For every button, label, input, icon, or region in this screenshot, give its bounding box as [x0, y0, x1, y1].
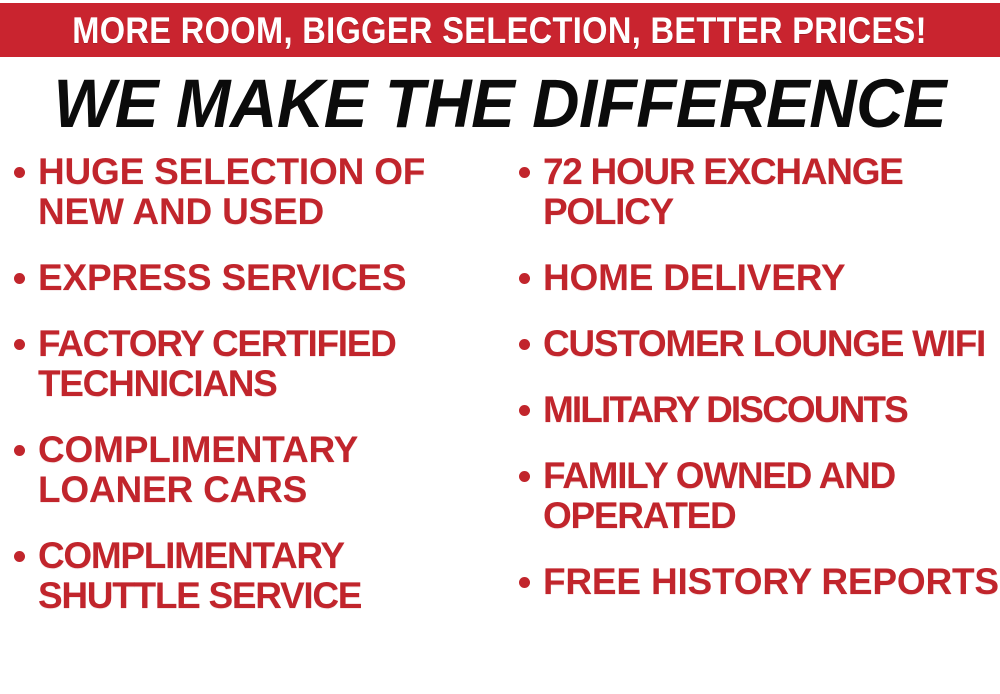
list-item: COMPLIMENTARY LOANER CARS [14, 430, 506, 510]
benefits-column-left: HUGE SELECTION OF NEW AND USED EXPRESS S… [14, 152, 506, 694]
bullet-dot-icon [519, 577, 530, 588]
list-item: HOME DELIVERY [519, 258, 1000, 298]
benefit-label: HOME DELIVERY [543, 258, 845, 298]
headline-container: WE MAKE THE DIFFERENCE [0, 64, 1000, 142]
benefits-columns: HUGE SELECTION OF NEW AND USED EXPRESS S… [0, 152, 1000, 694]
list-item: COMPLIMENTARY SHUTTLE SERVICE [14, 536, 506, 616]
bullet-dot-icon [14, 551, 25, 562]
list-item: CUSTOMER LOUNGE WIFI [519, 324, 1000, 364]
page-title: WE MAKE THE DIFFERENCE [54, 69, 947, 138]
benefits-column-right: 72 HOUR EXCHANGE POLICY HOME DELIVERY CU… [519, 152, 1000, 694]
list-item: MILITARY DISCOUNTS [519, 390, 1000, 430]
list-item: FREE HISTORY REPORTS [519, 562, 1000, 602]
bullet-dot-icon [519, 471, 530, 482]
benefit-label: 72 HOUR EXCHANGE POLICY [543, 152, 1000, 232]
benefit-label: FAMILY OWNED AND OPERATED [543, 456, 1000, 536]
bullet-dot-icon [14, 273, 25, 284]
bullet-dot-icon [519, 167, 530, 178]
promo-banner-graphic: MORE ROOM, BIGGER SELECTION, BETTER PRIC… [0, 0, 1000, 694]
benefit-label: FACTORY CERTIFIED TECHNICIANS [38, 324, 506, 404]
list-item: EXPRESS SERVICES [14, 258, 506, 298]
benefit-label: MILITARY DISCOUNTS [543, 390, 907, 430]
top-red-banner: MORE ROOM, BIGGER SELECTION, BETTER PRIC… [0, 3, 1000, 57]
bullet-dot-icon [14, 445, 25, 456]
list-item: HUGE SELECTION OF NEW AND USED [14, 152, 506, 232]
bullet-dot-icon [14, 339, 25, 350]
benefit-label: CUSTOMER LOUNGE WIFI [543, 324, 985, 364]
benefit-label: FREE HISTORY REPORTS [543, 562, 999, 602]
benefit-label: COMPLIMENTARY SHUTTLE SERVICE [38, 536, 506, 616]
bullet-dot-icon [519, 273, 530, 284]
benefit-label: HUGE SELECTION OF NEW AND USED [38, 152, 506, 232]
benefit-label: COMPLIMENTARY LOANER CARS [38, 430, 506, 510]
list-item: FACTORY CERTIFIED TECHNICIANS [14, 324, 506, 404]
bullet-dot-icon [519, 339, 530, 350]
banner-headline-text: MORE ROOM, BIGGER SELECTION, BETTER PRIC… [73, 12, 928, 49]
bullet-dot-icon [519, 405, 530, 416]
benefit-label: EXPRESS SERVICES [38, 258, 406, 298]
list-item: 72 HOUR EXCHANGE POLICY [519, 152, 1000, 232]
list-item: FAMILY OWNED AND OPERATED [519, 456, 1000, 536]
bullet-dot-icon [14, 167, 25, 178]
